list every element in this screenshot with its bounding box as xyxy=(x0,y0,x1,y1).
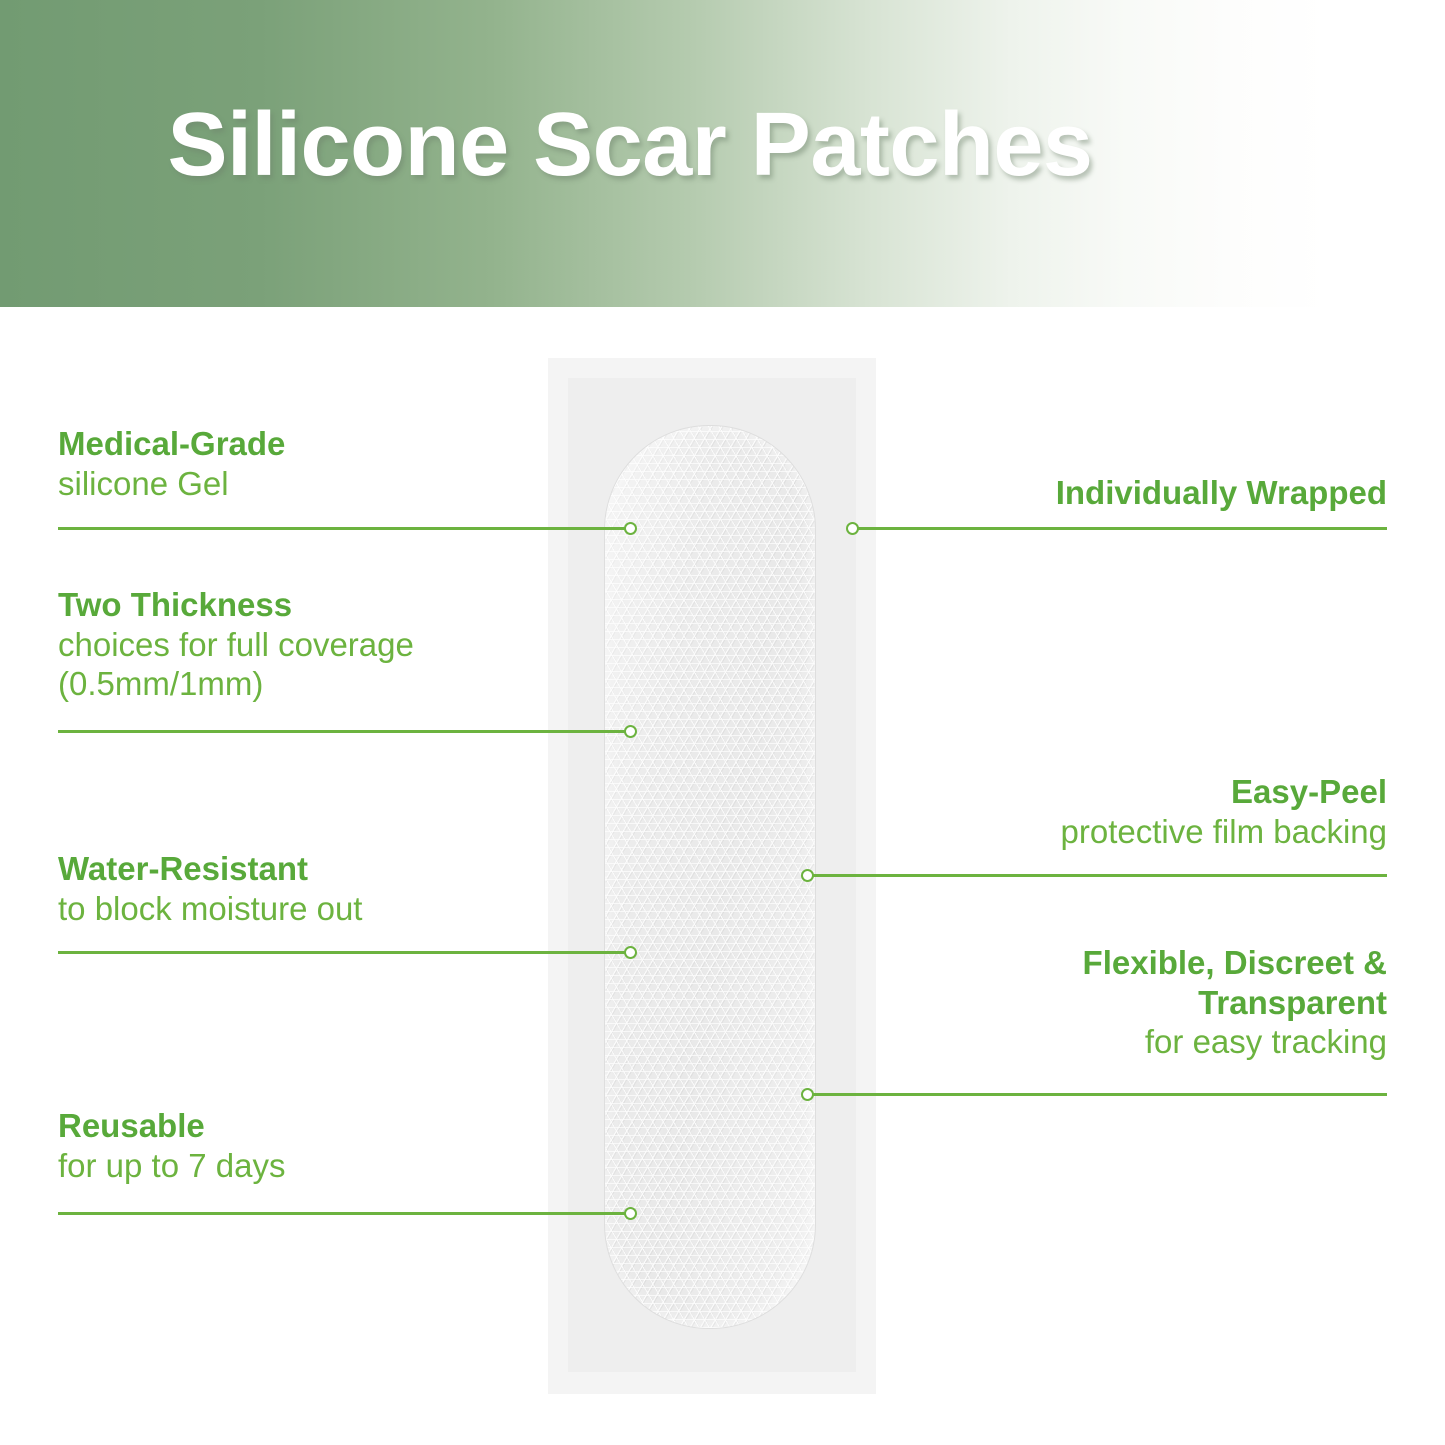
callout-medical-grade-sub-1: silicone Gel xyxy=(58,464,618,504)
callout-reusable-sub-1: for up to 7 days xyxy=(58,1146,618,1186)
patch-sheen xyxy=(605,426,815,1328)
callout-easy-peel-sub-1: protective film backing xyxy=(827,812,1387,852)
callout-water-resistant: Water-Resistant to block moisture out xyxy=(58,849,618,928)
callout-flexible-title-line-1: Flexible, Discreet & xyxy=(827,943,1387,983)
callout-medical-grade-title: Medical-Grade xyxy=(58,424,618,464)
leader-dot-two-thickness xyxy=(624,725,637,738)
leader-line-reusable xyxy=(58,1212,631,1215)
leader-line-easy-peel xyxy=(810,874,1387,877)
header-banner: Silicone Scar Patches xyxy=(0,0,1445,307)
callout-two-thickness-sub-1: choices for full coverage xyxy=(58,625,618,665)
leader-dot-flexible-discreet-transparent xyxy=(801,1088,814,1101)
infographic-canvas: Silicone Scar Patches Medical-Grade sili… xyxy=(0,0,1445,1445)
leader-dot-reusable xyxy=(624,1207,637,1220)
callout-easy-peel: Easy-Peel protective film backing xyxy=(827,772,1387,851)
callout-two-thickness-sub-2: (0.5mm/1mm) xyxy=(58,664,618,704)
leader-line-individually-wrapped xyxy=(855,527,1387,530)
leader-dot-medical-grade xyxy=(624,522,637,535)
callout-flexible-sub-1: for easy tracking xyxy=(827,1022,1387,1062)
callout-individually-wrapped-title: Individually Wrapped xyxy=(827,473,1387,513)
callout-medical-grade: Medical-Grade silicone Gel xyxy=(58,424,618,503)
callout-individually-wrapped: Individually Wrapped xyxy=(827,473,1387,513)
callout-easy-peel-title: Easy-Peel xyxy=(827,772,1387,812)
leader-line-medical-grade xyxy=(58,527,631,530)
silicone-patch xyxy=(604,425,816,1329)
callout-flexible-discreet-transparent: Flexible, Discreet & Transparent for eas… xyxy=(827,943,1387,1062)
callout-reusable: Reusable for up to 7 days xyxy=(58,1106,618,1185)
leader-dot-easy-peel xyxy=(801,869,814,882)
leader-line-flexible-discreet-transparent xyxy=(810,1093,1387,1096)
leader-dot-water-resistant xyxy=(624,946,637,959)
leader-line-water-resistant xyxy=(58,951,631,954)
callout-two-thickness-title: Two Thickness xyxy=(58,585,618,625)
callout-flexible-title-line-2: Transparent xyxy=(827,983,1387,1023)
callout-water-resistant-sub-1: to block moisture out xyxy=(58,889,618,929)
leader-dot-individually-wrapped xyxy=(846,522,859,535)
page-title: Silicone Scar Patches xyxy=(0,98,1260,193)
callout-two-thickness: Two Thickness choices for full coverage … xyxy=(58,585,618,704)
callout-reusable-title: Reusable xyxy=(58,1106,618,1146)
callout-water-resistant-title: Water-Resistant xyxy=(58,849,618,889)
leader-line-two-thickness xyxy=(58,730,631,733)
